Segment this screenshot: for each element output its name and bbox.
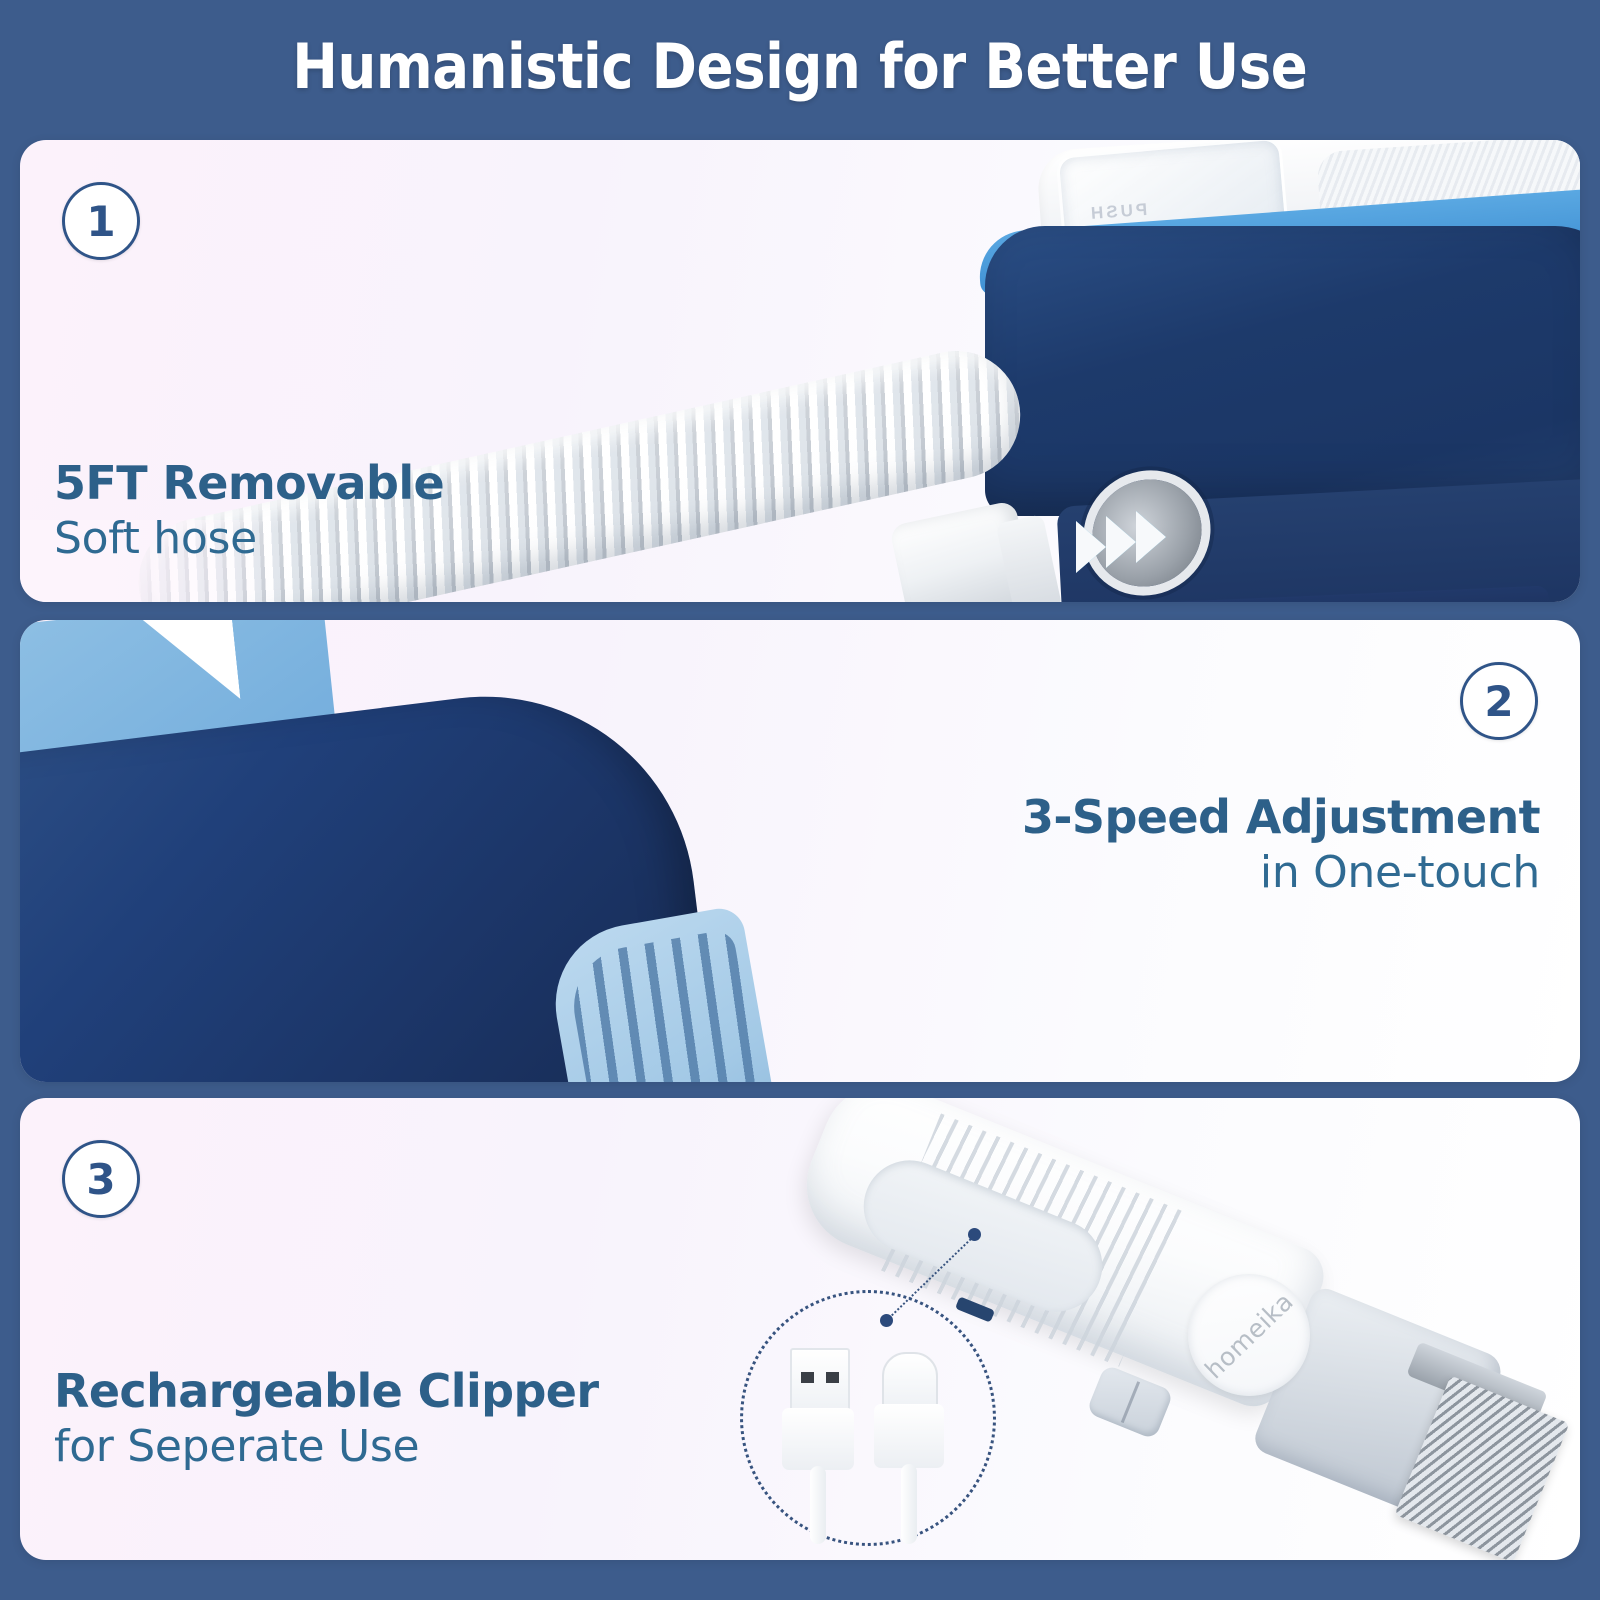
step-number-1: 1 xyxy=(62,182,140,260)
usb-c-housing xyxy=(874,1404,944,1468)
usb-a-cord xyxy=(810,1466,826,1544)
panel-2-caption: 3-Speed Adjustment in One-touch xyxy=(1022,792,1540,897)
panel-1-subtitle: Soft hose xyxy=(54,514,444,563)
vacuum-body xyxy=(985,226,1580,516)
feature-panel-2: ⏻ Adjustment button Power switch 2 3-Spe… xyxy=(20,620,1580,1082)
cable-callout-circle xyxy=(740,1290,996,1546)
panel-1-caption: 5FT Removable Soft hose xyxy=(54,458,444,563)
panel-2-title: 3-Speed Adjustment xyxy=(1022,792,1540,844)
infographic-root: Humanistic Design for Better Use PUSH 1 … xyxy=(0,0,1600,1600)
chevron-right-icon xyxy=(1076,521,1106,573)
panel-3-title: Rechargeable Clipper xyxy=(54,1366,598,1418)
panel-3-subtitle: for Seperate Use xyxy=(54,1422,598,1471)
feature-panel-1: PUSH 1 5FT Removable Soft hose xyxy=(20,140,1580,602)
header-banner: Humanistic Design for Better Use xyxy=(0,0,1600,132)
panel-2-subtitle: in One-touch xyxy=(1022,848,1540,897)
step-number-2: 2 xyxy=(1460,662,1538,740)
chevron-right-icon xyxy=(1106,516,1136,568)
usb-c-connector-icon xyxy=(882,1352,938,1412)
chevron-right-icon xyxy=(1136,511,1166,563)
clipper-slider-switch[interactable] xyxy=(1086,1364,1174,1440)
callout-anchor-dot xyxy=(880,1314,893,1327)
callout-anchor-dot xyxy=(968,1228,981,1241)
brand-label: homeika xyxy=(1199,1286,1299,1384)
panel-1-title: 5FT Removable xyxy=(54,458,444,510)
usb-c-cord xyxy=(901,1464,917,1544)
usb-a-housing xyxy=(782,1408,854,1470)
page-title: Humanistic Design for Better Use xyxy=(292,30,1307,103)
usb-a-connector-icon xyxy=(790,1348,850,1416)
push-label: PUSH xyxy=(1087,200,1147,224)
panel-3-caption: Rechargeable Clipper for Seperate Use xyxy=(54,1366,598,1471)
step-number-3: 3 xyxy=(62,1140,140,1218)
